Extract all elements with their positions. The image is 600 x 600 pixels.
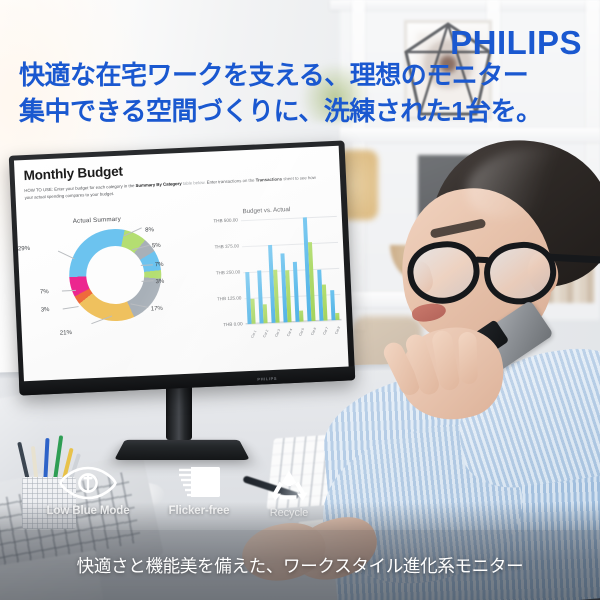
philips-monitor: PHILIPS Monthly Budget HOW TO USE: Enter… — [9, 141, 356, 396]
bar-actual — [263, 304, 268, 323]
bar-chart-x-tick: Cat 6 — [310, 327, 317, 336]
bar-chart-x-tick: Cat 2 — [262, 329, 269, 338]
bottom-banner-text: 快適さと機能美を備えた、ワークスタイル進化系モニター — [77, 553, 524, 578]
donut-pct-label: 3% — [41, 307, 50, 313]
donut-pct-label: 17% — [151, 306, 163, 313]
flicker-free-screen-icon — [177, 466, 221, 500]
bar-chart-y-label: THB 375.00 — [214, 244, 239, 250]
bar-actual — [251, 299, 256, 324]
monitor-screen: Monthly Budget HOW TO USE: Enter your bu… — [14, 146, 349, 382]
headline-line-1: 快適な在宅ワークを支える、理想のモニター — [19, 58, 584, 93]
recycle-icon — [270, 470, 308, 502]
philips-logo: PHILIPS — [450, 24, 582, 62]
bar-chart-x-tick: Cat 7 — [322, 326, 329, 335]
bar-chart-y-label: THB 125.00 — [217, 296, 242, 302]
bar-actual — [322, 284, 328, 321]
donut-leader-line — [58, 251, 75, 260]
right-lens — [481, 238, 560, 308]
donut-pct-label: 5% — [152, 243, 161, 249]
left-lens — [404, 237, 483, 307]
howto-text-3: Enter transactions on the — [207, 178, 256, 185]
headline-line-2: 集中できる空間づくりに、洗練された1台を。 — [19, 94, 584, 129]
bar-chart-plot: THB 500.00THB 375.00THB 250.00THB 125.00… — [241, 216, 342, 324]
monitor-bezel-logo: PHILIPS — [257, 376, 277, 382]
eye-icon — [59, 466, 117, 500]
donut-chart-title: Actual Summary — [73, 216, 121, 225]
howto-text-5: your budget. — [90, 191, 114, 197]
bar-chart-gridline — [241, 216, 337, 221]
bar-chart-x-tick: Cat 8 — [334, 326, 341, 335]
bottom-banner: 快適さと機能美を備えた、ワークスタイル進化系モニター — [0, 530, 600, 600]
howto-prefix: HOW TO USE: — [24, 187, 53, 193]
donut-pct-label: 8% — [145, 227, 154, 233]
monitor-stand-neck — [166, 384, 192, 440]
bar-chart-x-tick: Cat 4 — [286, 328, 293, 337]
donut-pct-label: 7% — [40, 289, 49, 295]
ad-canvas: PHILIPS Monthly Budget HOW TO USE: Enter… — [0, 0, 600, 600]
bar-chart-y-label: THB 500.00 — [213, 218, 238, 224]
banner-gradient-fade — [0, 502, 600, 530]
glasses-bridge — [474, 256, 490, 263]
donut-pct-label: 7% — [155, 262, 164, 268]
spreadsheet-dashboard: Monthly Budget HOW TO USE: Enter your bu… — [14, 146, 349, 382]
bar-chart-x-tick: Cat 1 — [250, 330, 257, 339]
howto-text-2: table below. — [182, 180, 206, 186]
bar-chart-title: Budget vs. Actual — [242, 206, 290, 215]
bar-chart-y-label: THB 0.00 — [223, 322, 243, 328]
bar-chart-x-tick: Cat 3 — [274, 329, 281, 338]
finger-4 — [458, 332, 478, 385]
bar-chart-gridline — [242, 242, 338, 247]
charts-area: Actual Summary 29%8%5%7%3%17%21%3%7% Bud… — [17, 204, 349, 378]
donut-pct-label: 29% — [18, 246, 30, 253]
monitor-stand-base — [114, 440, 250, 460]
bar-actual — [335, 313, 339, 320]
bar-actual — [299, 310, 304, 322]
header: PHILIPS 快適な在宅ワークを支える、理想のモニター 集中できる空間づくりに… — [0, 0, 600, 150]
donut-leader-line — [63, 306, 79, 309]
howto-bold-transactions: Transactions — [256, 176, 283, 182]
bar-chart-y-label: THB 250.00 — [216, 270, 241, 276]
actual-summary-chart: Actual Summary 29%8%5%7%3%17%21%3%7% — [39, 213, 196, 370]
headline: 快適な在宅ワークを支える、理想のモニター 集中できる空間づくりに、洗練された1台… — [19, 58, 584, 128]
bar-chart-x-tick: Cat 5 — [298, 327, 305, 336]
budget-vs-actual-chart: Budget vs. Actual THB 500.00THB 375.00TH… — [192, 204, 348, 361]
donut-pct-label: 3% — [155, 279, 164, 285]
donut-pct-label: 21% — [60, 330, 72, 337]
howto-text-1: Enter your budget for each category in t… — [53, 183, 136, 192]
howto-bold-summary: Summary By Category — [135, 181, 181, 188]
